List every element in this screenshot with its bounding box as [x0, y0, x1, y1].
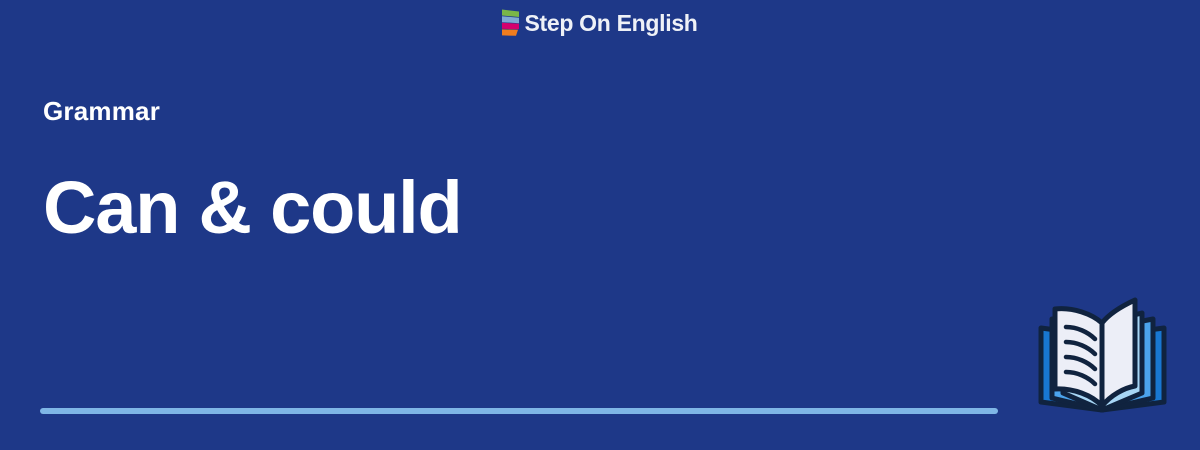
open-book-icon [1030, 292, 1175, 417]
hero-content: Grammar Can & could [43, 96, 1023, 245]
brand-logo[interactable]: Step On English [502, 7, 697, 39]
category-label: Grammar [43, 96, 1023, 127]
brand-name-text: Step On English [524, 12, 697, 35]
site-header: Step On English [0, 0, 1200, 46]
stacked-bars-logo-icon [502, 9, 521, 37]
page-title: Can & could [43, 171, 1023, 245]
divider-rule [40, 408, 998, 414]
